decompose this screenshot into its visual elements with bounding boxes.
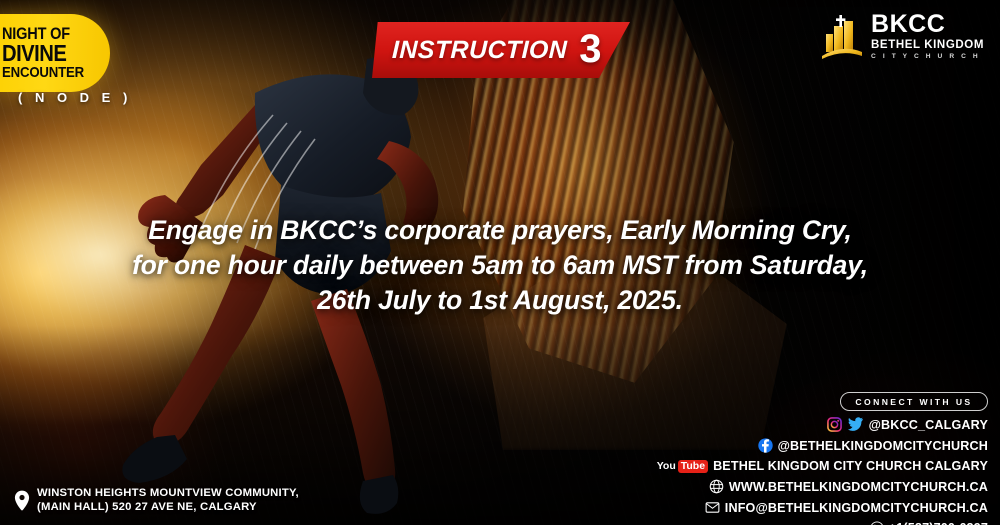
social-row-instagram-twitter[interactable]: @BKCC_CALGARY [698,417,988,432]
main-message: Engage in BKCC’s corporate prayers, Earl… [0,213,1000,319]
social-row-website[interactable]: WWW.BETHELKINGDOMCITYCHURCH.CA [698,479,988,494]
email-address: INFO@BETHELKINGDOMCITYCHURCH.CA [725,501,988,515]
instagram-icon[interactable] [827,417,842,432]
node-badge: NIGHT OF DIVINE ENCOUNTER [0,14,110,92]
node-badge-line2: DIVINE [2,42,88,65]
website-url: WWW.BETHELKINGDOMCITYCHURCH.CA [729,480,988,494]
logo-tagline: C I T Y C H U R C H [871,54,984,61]
address-line-1: WINSTON HEIGHTS MOUNTVIEW COMMUNITY, [37,487,299,499]
connect-block: CONNECT WITH US @BKCC_CALGARY [698,392,988,525]
social-row-facebook[interactable]: @BETHELKINGDOMCITYCHURCH [698,438,988,453]
message-line-3: 26th July to 1st August, 2025. [70,283,930,318]
address-line-2: (MAIN HALL) 520 27 AVE NE, CALGARY [37,501,299,513]
connect-heading-label: CONNECT WITH US [855,397,972,407]
social-handle-youtube: BETHEL KINGDOM CITY CHURCH CALGARY [713,459,988,473]
facebook-icon[interactable] [758,438,773,453]
social-row-youtube[interactable]: YouTube BETHEL KINGDOM CITY CHURCH CALGA… [698,459,988,473]
logo-name: BETHEL KINGDOM [871,40,984,52]
bkcc-logo: BKCC BETHEL KINGDOM C I T Y C H U R C H [820,12,984,61]
phone-number: +1(587)700-6297 [889,521,988,525]
youtube-icon[interactable]: YouTube [657,460,708,473]
globe-icon[interactable] [709,479,724,494]
node-badge-line3: ENCOUNTER [2,65,88,80]
message-line-1: Engage in BKCC’s corporate prayers, Earl… [70,213,930,248]
poster-canvas: NIGHT OF DIVINE ENCOUNTER ( N O D E ) IN… [0,0,1000,525]
connect-heading-pill: CONNECT WITH US [840,392,988,411]
social-handle-facebook: @BETHELKINGDOMCITYCHURCH [778,439,988,453]
instruction-number: 3 [579,29,601,69]
instruction-banner: INSTRUCTION 3 [372,22,630,78]
twitter-icon[interactable] [847,417,864,432]
instruction-label: INSTRUCTION [391,36,567,65]
social-row-phone[interactable]: +1(587)700-6297 [698,521,988,525]
message-line-2: for one hour daily between 5am to 6am MS… [70,248,930,283]
node-badge-subtitle: ( N O D E ) [18,90,132,105]
social-handle-instagram-twitter: @BKCC_CALGARY [869,418,988,432]
church-building-cross-icon [820,12,864,60]
location-pin-icon [14,490,30,511]
phone-icon[interactable] [870,521,884,525]
social-row-email[interactable]: INFO@BETHELKINGDOMCITYCHURCH.CA [698,500,988,515]
logo-acronym: BKCC [871,12,984,37]
email-icon[interactable] [705,500,720,515]
venue-address: WINSTON HEIGHTS MOUNTVIEW COMMUNITY, (MA… [14,487,299,513]
